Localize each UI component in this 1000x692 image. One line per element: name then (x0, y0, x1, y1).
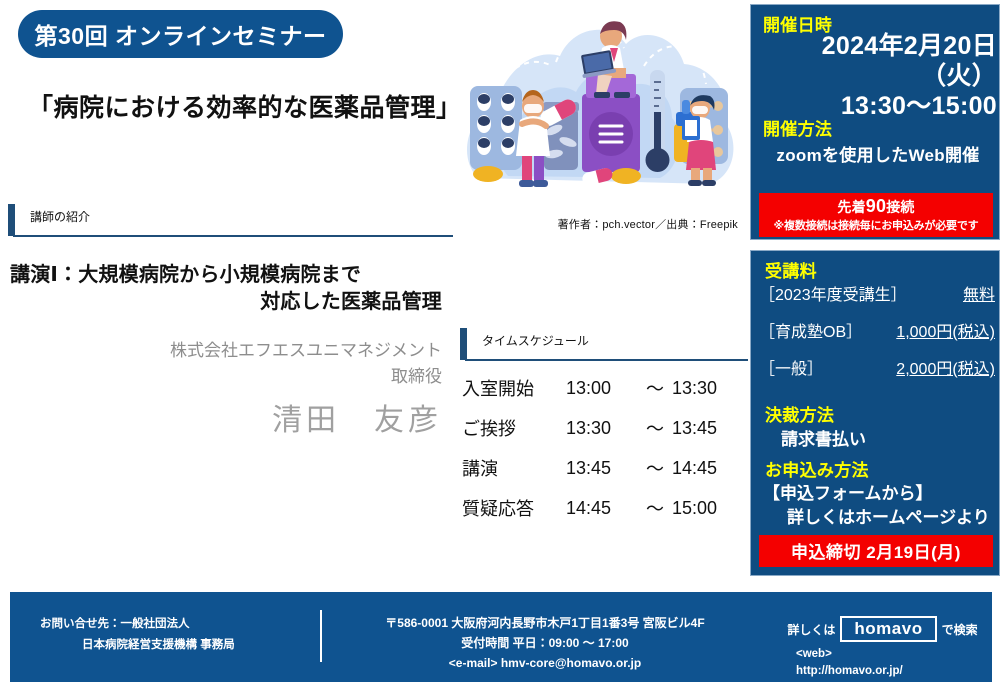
search-keyword-box[interactable]: homavo (840, 616, 936, 642)
capacity-prefix: 先着 (837, 199, 865, 215)
footer-search-block: 詳しくは homavo で検索 <web> http://homavo.or.j… (770, 616, 995, 681)
footer-address-block: 〒586-0001 大阪府河内長野市木戸1丁目1番3号 宮阪ビル4F 受付時間 … (345, 614, 745, 673)
deadline-badge: 申込締切 2月19日(月) (759, 535, 993, 567)
footer-address: 〒586-0001 大阪府河内長野市木戸1丁目1番3号 宮阪ビル4F (345, 614, 745, 634)
method-value: zoomを使用したWeb開催 (759, 141, 997, 166)
payment-value: 請求書払い (781, 425, 866, 450)
capacity-line: 先着90接続 (759, 196, 993, 217)
schedule-item-end: 13:45 (672, 408, 747, 448)
schedule-item-end: 15:00 (672, 488, 747, 528)
footer-contact: お問い合せ先：一般社団法人 日本病院経営支援機構 事務局 (40, 614, 310, 655)
schedule-row: 入室開始13:00～13:30 (462, 368, 747, 408)
seminar-badge: 第30回 オンラインセミナー (18, 10, 343, 58)
apply-label: お申込み方法 (765, 456, 869, 481)
schedule-item-start: 13:30 (566, 408, 638, 448)
fee-amount: 2,000円(税込) (896, 355, 995, 379)
schedule-row: ご挨拶13:30～13:45 (462, 408, 747, 448)
schedule-item-separator: ～ (638, 368, 672, 408)
capacity-suffix: 接続 (886, 199, 914, 215)
lecture-title: 講演Ⅰ：大規模病院から小規模病院まで 対応した医薬品管理 (10, 262, 450, 316)
schedule-item-name: ご挨拶 (462, 408, 566, 448)
schedule-item-name: 質疑応答 (462, 488, 566, 528)
schedule-table: 入室開始13:00～13:30ご挨拶13:30～13:45講演13:45～14:… (462, 368, 747, 528)
apply-method-form: 【申込フォームから】 (763, 479, 933, 504)
apply-method-details: 詳しくはホームページより (787, 503, 990, 528)
footer-web-url[interactable]: http://homavo.or.jp/ (796, 663, 995, 680)
capacity-number: 90 (866, 196, 886, 216)
fee-row: ［育成塾OB］1,000円(税込) (759, 318, 995, 342)
page-title: 「病院における効率的な医薬品管理」 (28, 88, 448, 124)
event-datetime: 2024年2月20日（火） 13:30～15:00 (759, 31, 997, 121)
lecture-title-line1: 講演Ⅰ：大規模病院から小規模病院まで (10, 262, 450, 289)
schedule-item-name: 入室開始 (462, 368, 566, 408)
search-prompt: 詳しくは homavo で検索 (770, 616, 995, 642)
footer-hours: 受付時間 平日：09:00 ～ 17:00 (345, 634, 745, 654)
section-accent-bar (8, 204, 15, 236)
schedule-rows: 入室開始13:00～13:30ご挨拶13:30～13:45講演13:45～14:… (462, 368, 747, 528)
section-accent-bar (460, 328, 467, 360)
footer-divider (320, 610, 322, 662)
fee-label: 受講料 (765, 257, 817, 282)
search-prefix: 詳しくは (787, 621, 835, 638)
footer-bar: お問い合せ先：一般社団法人 日本病院経営支援機構 事務局 〒586-0001 大… (10, 592, 992, 682)
fee-amount: 無料 (963, 281, 995, 305)
event-info-panel: 開催日時 2024年2月20日（火） 13:30～15:00 開催方法 zoom… (750, 4, 1000, 240)
fee-category: ［育成塾OB］ (759, 318, 862, 342)
schedule-item-separator: ～ (638, 488, 672, 528)
schedule-item-separator: ～ (638, 448, 672, 488)
schedule-item-start: 13:45 (566, 448, 638, 488)
fee-category: ［2023年度受講生］ (759, 281, 907, 305)
schedule-item-end: 13:30 (672, 368, 747, 408)
deadline-text: 申込締切 2月19日(月) (759, 538, 993, 563)
fee-amount: 1,000円(税込) (896, 318, 995, 342)
fee-row: ［一般］2,000円(税込) (759, 355, 995, 379)
illustration-credit: 著作者：pch.vector／出典：Freepik (448, 216, 738, 232)
seminar-badge-label: 第30回 オンラインセミナー (35, 17, 327, 51)
speaker-company: 株式会社エフエスユニマネジメント (10, 338, 442, 364)
search-suffix: で検索 (942, 621, 978, 638)
fee-category: ［一般］ (759, 355, 823, 379)
section-rule (465, 359, 748, 361)
payment-label: 決裁方法 (765, 401, 834, 426)
speaker-affiliation: 株式会社エフエスユニマネジメント 取締役 (10, 338, 442, 389)
capacity-badge: 先着90接続 ※複数接続は接続毎にお申込みが必要です (759, 193, 993, 237)
fee-list: ［2023年度受講生］無料［育成塾OB］1,000円(税込)［一般］2,000円… (759, 281, 995, 392)
fee-application-panel: 受講料 ［2023年度受講生］無料［育成塾OB］1,000円(税込)［一般］2,… (750, 250, 1000, 576)
schedule-item-name: 講演 (462, 448, 566, 488)
footer-contact-line1: お問い合せ先：一般社団法人 (40, 618, 190, 630)
fee-row: ［2023年度受講生］無料 (759, 281, 995, 305)
footer-email: <e-mail> hmv-core@homavo.or.jp (345, 654, 745, 674)
schedule-item-end: 14:45 (672, 448, 747, 488)
schedule-section-label: タイムスケジュール (482, 332, 589, 349)
schedule-row: 質疑応答14:45～15:00 (462, 488, 747, 528)
section-rule (13, 235, 453, 237)
capacity-note: ※複数接続は接続毎にお申込みが必要です (759, 217, 993, 233)
method-label: 開催方法 (763, 115, 832, 140)
pharmacists-medicine-illustration (448, 8, 748, 218)
lecture-title-line2: 対応した医薬品管理 (10, 289, 450, 316)
footer-contact-line2: 日本病院経営支援機構 事務局 (40, 635, 310, 656)
footer-web-block: <web> http://homavo.or.jp/ (770, 646, 995, 681)
schedule-item-start: 14:45 (566, 488, 638, 528)
speaker-section-label: 講師の紹介 (30, 208, 90, 225)
event-date: 2024年2月20日（火） (759, 31, 997, 91)
schedule-item-separator: ～ (638, 408, 672, 448)
seminar-flyer: 第30回 オンラインセミナー 「病院における効率的な医薬品管理」 (0, 0, 1000, 692)
speaker-position: 取締役 (10, 364, 442, 390)
footer-web-label: <web> (796, 646, 995, 663)
schedule-item-start: 13:00 (566, 368, 638, 408)
speaker-name: 清田 友彦 (10, 395, 442, 439)
schedule-row: 講演13:45～14:45 (462, 448, 747, 488)
